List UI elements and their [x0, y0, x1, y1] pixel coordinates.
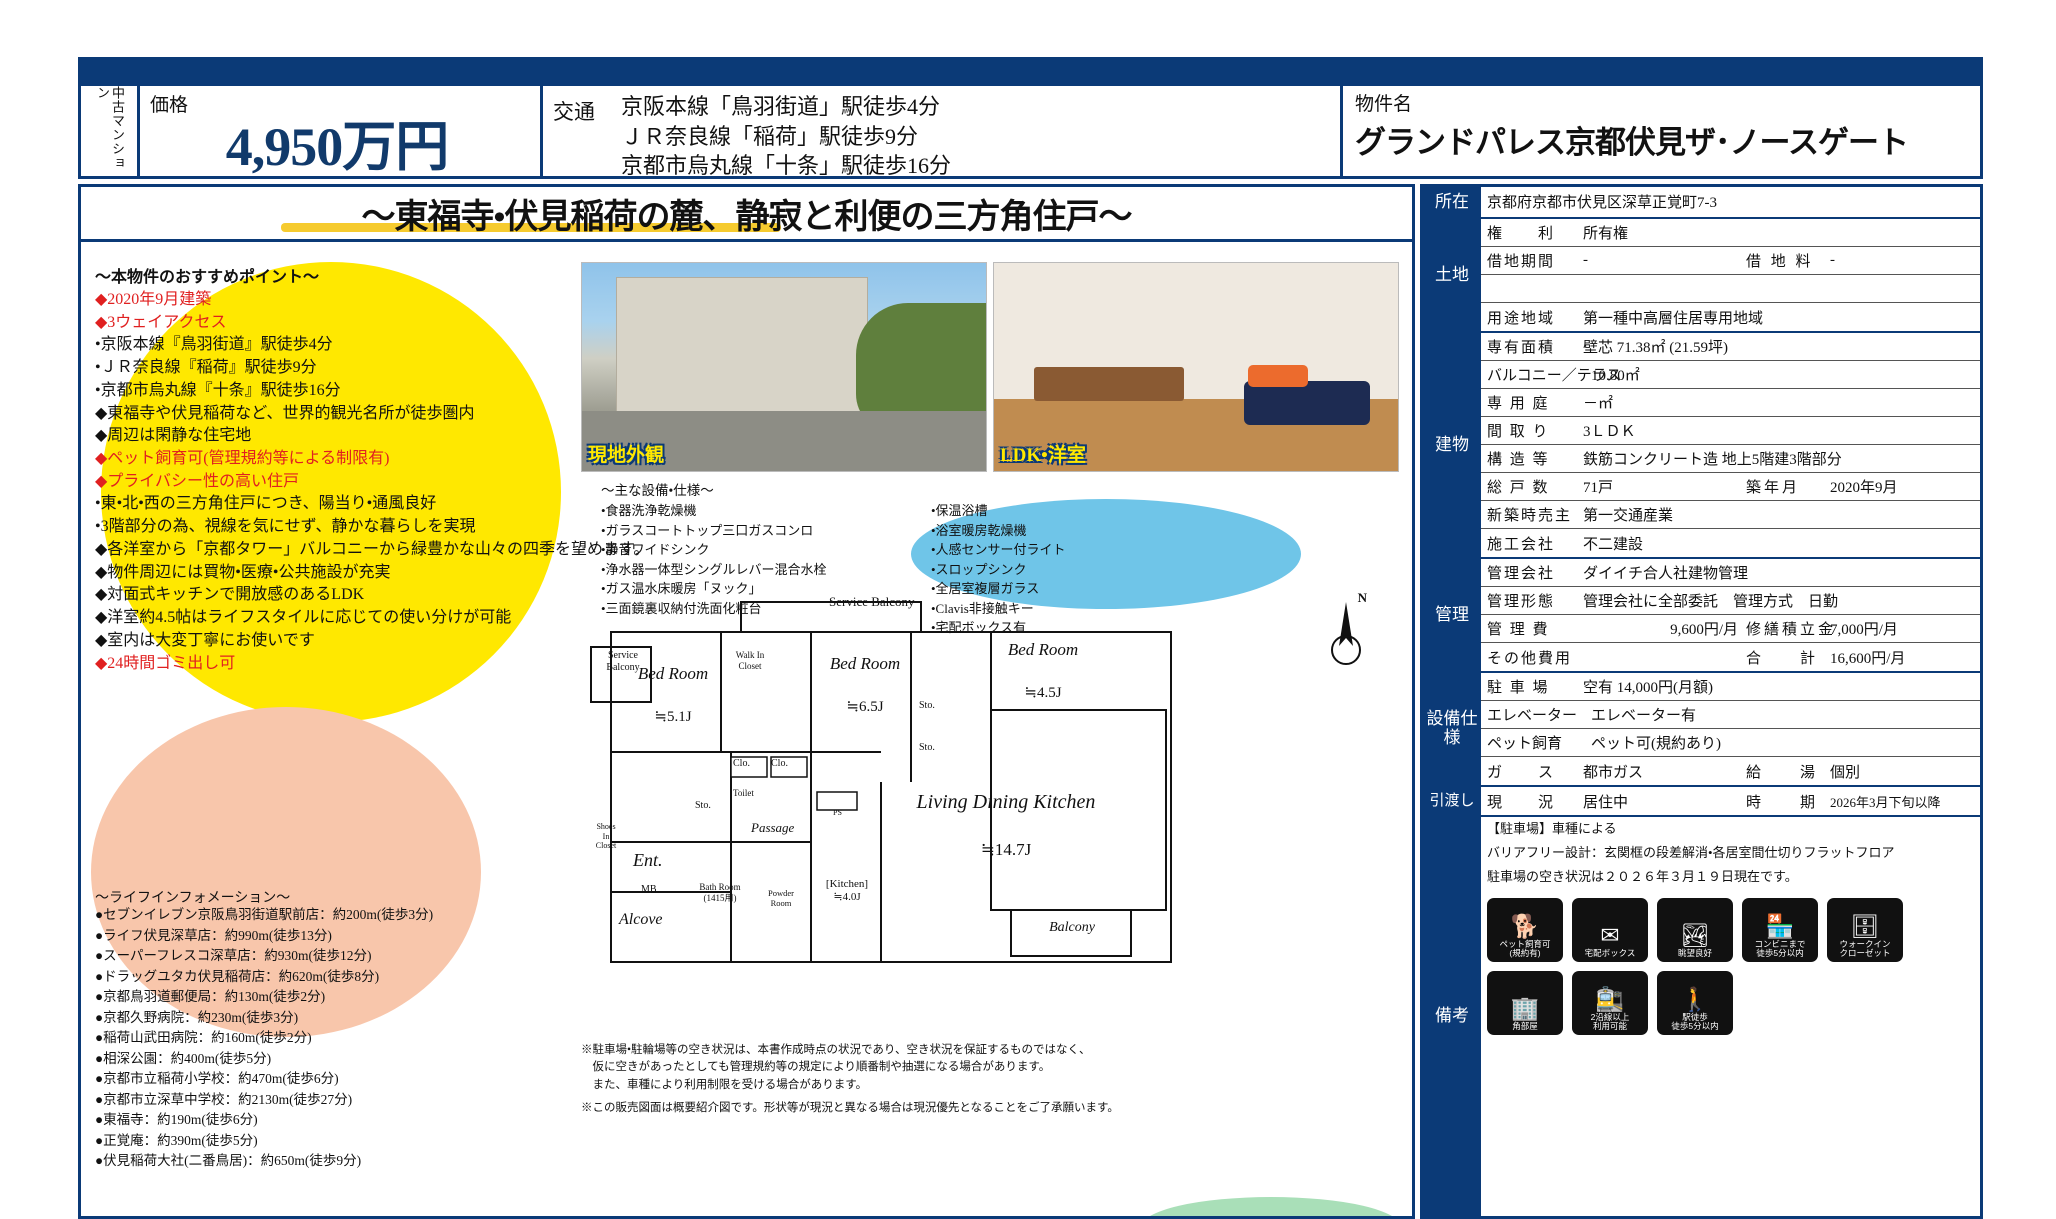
spec-row: 専有面積 壁芯 71.38㎡ (21.59坪)	[1481, 333, 1980, 361]
fac-key: エレベーター	[1487, 704, 1591, 725]
point-item: ◆24時間ゴミ出し可	[95, 653, 565, 676]
point-item: ◆周辺は閑静な住宅地	[95, 425, 565, 448]
building-value: 鉄筋コンクリート造 地上5階建3階部分	[1583, 448, 1980, 469]
del-value: 居住中	[1583, 791, 1746, 812]
badge-label: 角部屋	[1512, 1021, 1538, 1031]
spec-side-label-building: 建物	[1423, 333, 1481, 557]
bathroom-label: Bath Room (1415用)	[689, 882, 751, 904]
equipment-item: •食器洗浄乾燥機	[601, 501, 931, 521]
spec-side-label-remarks: 備考	[1423, 817, 1481, 1216]
storage-label: Sto.	[919, 742, 935, 754]
balcony-label: Balcony	[1017, 920, 1127, 937]
spec-side-label-location: 所在	[1423, 187, 1481, 217]
point-item: •3階部分の為、視線を気にせず、静かな暮らしを実現	[95, 516, 565, 539]
spec-row: ペット飼育 ペット可(規約あり)	[1481, 729, 1980, 757]
access-line: ＪＲ奈良線「稲荷」駅徒歩9分	[621, 122, 1340, 152]
access-cell: 交通 京阪本線「鳥羽街道」駅徒歩4分 ＪＲ奈良線「稲荷」駅徒歩9分 京都市烏丸線…	[543, 86, 1343, 176]
compass-icon	[1317, 598, 1375, 670]
life-info-item: ●稲荷山武田病院：約160m(徒歩2分)	[95, 1028, 575, 1049]
bedroom-1-size: ≒5.1J	[625, 708, 721, 726]
badge-pet-allowed: 🐕 ペット飼育可(規約有)	[1487, 898, 1563, 962]
mgmt-value2: 16,600円/月	[1830, 647, 1980, 668]
equipment-item: •ガラスコートトップ三口ガスコンロ	[601, 521, 931, 541]
building-value2: 2020年9月	[1830, 476, 1980, 497]
land-value2: -	[1830, 252, 1980, 269]
mgmt-value: 9,600円/月	[1583, 618, 1746, 639]
price-cell: 価格 4,950万円	[140, 86, 543, 176]
mgmt-value: ダイイチ合人社建物管理	[1583, 562, 1980, 583]
building-key: 専 用 庭	[1487, 392, 1583, 413]
point-item: •東•北•西の三方角住戸につき、陽当り•通風良好	[95, 493, 565, 516]
spec-side-label-land: 土地	[1423, 219, 1481, 331]
spec-section-management: 管理 管理会社 ダイイチ合人社建物管理 管理形態 管理会社に全部委託 管理方式 …	[1423, 559, 1980, 673]
life-info-item: ●ドラッグユタカ伏見稲荷店：約620m(徒歩8分)	[95, 967, 575, 988]
points-heading: ～本物件のおすすめポイント～	[95, 263, 565, 287]
point-item: ◆プライバシー性の高い住戸	[95, 471, 565, 494]
green-blob	[1141, 1197, 1401, 1219]
land-key: 借地期間	[1487, 250, 1583, 271]
land-value: -	[1583, 252, 1746, 269]
badge-label: ウォークイン	[1839, 939, 1890, 949]
catchcopy-text: ～東福寺•伏見稲荷の麓、静寂と利便の三方角住戸～	[362, 189, 1132, 238]
land-value: 所有権	[1583, 222, 1980, 243]
land-key: 用途地域	[1487, 307, 1583, 328]
storage-label: Sto.	[919, 700, 935, 712]
footnotes: ※駐車場•駐輪場等の空き状況は、本書作成時点の状況であり、空き状況を保証するもの…	[581, 1042, 1401, 1117]
point-item: ◆3ウェイアクセス	[95, 312, 565, 335]
fac-key: ペット飼育	[1487, 732, 1591, 753]
spec-side-label-facilities: 設備仕様	[1423, 673, 1481, 785]
fac-value: エレベーター有	[1591, 704, 1980, 725]
life-info-item: ●スーパーフレスコ深草店：約930m(徒歩12分)	[95, 946, 575, 967]
footnote-line: 仮に空きがあったとしても管理規約等の規定により順番制や抽選になる場合があります。	[581, 1059, 1401, 1076]
remark-line: 駐車場の空き状況は２０２６年３月１９日現在です。	[1481, 865, 1980, 889]
ldk-photo-caption: LDK•洋室	[1000, 440, 1086, 467]
equipment-heading: ～主な設備•仕様～	[601, 479, 1401, 499]
life-info-item: ●京都市立深草中学校：約2130m(徒歩27分)	[95, 1090, 575, 1111]
service-balcony-top-label: Service Balcony	[829, 594, 915, 610]
life-info-item: ●相深公園：約400m(徒歩5分)	[95, 1049, 575, 1070]
equipment-item: •スロップシンク	[931, 560, 1261, 580]
bedroom-1-name: Bed Room	[625, 664, 721, 684]
badge-sublabel: (規約有)	[1509, 948, 1540, 958]
spec-row: 構 造 等 鉄筋コンクリート造 地上5階建3階部分	[1481, 445, 1980, 473]
bedroom-2-size: ≒6.5J	[817, 698, 913, 716]
property-name-label: 物件名	[1355, 89, 1980, 116]
spec-section-delivery: 引渡し 現 況 居住中 時 期 2026年3月下旬以降	[1423, 787, 1980, 817]
closet-label: Clo.	[733, 758, 750, 770]
fac-value2: 個別	[1830, 761, 1980, 782]
exterior-photo: 現地外観	[581, 262, 987, 472]
building-value: －㎡	[1583, 392, 1980, 413]
spec-row: その他費用 合 計 16,600円/月	[1481, 643, 1980, 671]
life-info-list: ●セブンイレブン京阪鳥羽街道駅前店：約200m(徒歩3分) ●ライフ伏見深草店：…	[95, 905, 575, 1172]
ldk-photo: LDK•洋室	[993, 262, 1399, 472]
station-walk-icon: 🚶	[1681, 988, 1710, 1011]
spec-table: 所在 京都府京都市伏見区深草正覚町7-3 土地 権 利 所有権 借地期間 - 借…	[1420, 184, 1983, 1219]
spec-section-remarks: 備考 【駐車場】車種による バリアフリー設計：玄関框の段差解消•各居室間仕切りフ…	[1423, 817, 1980, 1216]
badge-walk-in-closet: 🗄 ウォークインクローゼット	[1827, 898, 1903, 962]
storage-label: Sto.	[695, 800, 711, 812]
badge-sublabel: クローゼット	[1839, 948, 1890, 958]
spec-row: 新築時売主 第一交通産業	[1481, 501, 1980, 529]
property-name-cell: 物件名 グランドパレス京都伏見ザ･ノースゲート	[1343, 86, 1980, 176]
equipment-item: •保温浴槽	[931, 501, 1261, 521]
fac-key: 駐 車 場	[1487, 676, 1583, 697]
building-key: 総 戸 数	[1487, 476, 1583, 497]
mgmt-key: その他費用	[1487, 647, 1583, 668]
land-value: 第一種中高層住居専用地域	[1583, 307, 1980, 328]
life-info-item: ●東福寺：約190m(徒歩6分)	[95, 1110, 575, 1131]
spec-side-label-delivery: 引渡し	[1423, 787, 1481, 815]
badge-corner-room: 🏢 角部屋	[1487, 971, 1563, 1035]
sofa-shape	[1244, 381, 1370, 425]
fac-key2: 給 湯	[1746, 761, 1830, 782]
flyer-page: 中古マンション 価格 4,950万円 交通 京阪本線「鳥羽街道」駅徒歩4分 ＪＲ…	[0, 0, 2056, 1219]
point-item: •京都市烏丸線『十条』駅徒歩16分	[95, 380, 565, 403]
exterior-photo-caption: 現地外観	[588, 440, 664, 467]
bedroom-3-size: ≒4.5J	[995, 684, 1091, 702]
equipment-item: •人感センサー付ライト	[931, 540, 1261, 560]
points-list: ～本物件のおすすめポイント～ ◆2020年9月建築 ◆3ウェイアクセス •京阪本…	[95, 263, 565, 675]
two-lines-icon: 🚉	[1596, 988, 1625, 1011]
life-info-item: ●伏見稲荷大社(二番鳥居)：約650m(徒歩9分)	[95, 1151, 575, 1172]
spec-section-facilities: 設備仕様 駐 車 場 空有 14,000円(月額) エレベーター エレベーター有…	[1423, 673, 1980, 787]
closet-label: Clo.	[771, 758, 788, 770]
building-value: 第一交通産業	[1583, 504, 1980, 525]
spec-row: 借地期間 - 借 地 料 -	[1481, 247, 1980, 275]
spec-row: 管理会社 ダイイチ合人社建物管理	[1481, 559, 1980, 587]
footnote-line: ※駐車場•駐輪場等の空き状況は、本書作成時点の状況であり、空き状況を保証するもの…	[581, 1042, 1401, 1059]
badge-sublabel: 利用可能	[1593, 1021, 1627, 1031]
land-key2: 借 地 料	[1746, 250, 1830, 271]
badge-station-walk: 🚶 駅徒歩徒歩5分以内	[1657, 971, 1733, 1035]
building-key: 構 造 等	[1487, 448, 1583, 469]
badge-label: ペット飼育可	[1499, 939, 1550, 949]
mgmt-key: 管理形態	[1487, 590, 1583, 611]
building-key: 施工会社	[1487, 533, 1583, 554]
access-label: 交通	[553, 96, 595, 126]
equipment-item: •浄水器一体型シングルレバー混合水栓	[601, 560, 931, 580]
building-key: 新築時売主	[1487, 504, 1583, 525]
toilet-label: Toilet	[733, 788, 754, 799]
powder-room-label: Powder Room	[757, 888, 805, 908]
life-info-heading: ～ライフインフォメーション～	[95, 887, 565, 907]
point-item: •ＪＲ奈良線『稲荷』駅徒歩9分	[95, 357, 565, 380]
ldk-name: Living Dining Kitchen	[891, 790, 1121, 814]
spec-row: 管 理 費 9,600円/月 修繕積立金 7,000円/月	[1481, 615, 1980, 643]
view-icon: 🏞	[1680, 924, 1709, 947]
fac-value: 都市ガス	[1583, 761, 1746, 782]
spec-row: 施工会社 不二建設	[1481, 529, 1980, 557]
footnote-line: また、車種により利用制限を受ける場合があります。	[581, 1077, 1401, 1094]
spec-section-building: 建物 専有面積 壁芯 71.38㎡ (21.59坪) バルコニー／テラス 10.…	[1423, 333, 1980, 559]
floorplan-drawing	[581, 592, 1401, 1037]
badge-label: 眺望良好	[1678, 948, 1712, 958]
price-value: 4,950万円	[140, 102, 534, 181]
badge-grid: 🐕 ペット飼育可(規約有) ✉ 宅配ボックス 🏞 眺望良好 🏪 コンビニまで徒歩…	[1481, 890, 1980, 1043]
equipment-item: •浴室暖房乾燥機	[931, 521, 1261, 541]
spec-row: 間 取 り 3ＬＤＫ	[1481, 417, 1980, 445]
alcove-label: Alcove	[619, 910, 663, 929]
header-bar: 中古マンション 価格 4,950万円 交通 京阪本線「鳥羽街道」駅徒歩4分 ＪＲ…	[78, 83, 1983, 179]
building-key2: 築年月	[1746, 476, 1830, 497]
spec-row: エレベーター エレベーター有	[1481, 701, 1980, 729]
closet-icon: 🗄	[1850, 915, 1879, 938]
corner-room-icon: 🏢	[1511, 997, 1540, 1020]
life-info-item: ●正覚庵：約390m(徒歩5分)	[95, 1131, 575, 1152]
point-item: ◆ペット飼育可(管理規約等による制限有)	[95, 448, 565, 471]
mgmt-key2: 修繕積立金	[1746, 618, 1830, 639]
life-info-item: ●京都市立稲荷小学校：約470m(徒歩6分)	[95, 1069, 575, 1090]
building-value: 壁芯 71.38㎡ (21.59坪)	[1583, 336, 1980, 357]
badge-good-view: 🏞 眺望良好	[1657, 898, 1733, 962]
badge-label: 2沿線以上	[1591, 1012, 1630, 1022]
left-panel: ～東福寺•伏見稲荷の麓、静寂と利便の三方角住戸～ ～本物件のおすすめポイント～ …	[78, 184, 1415, 1219]
building-shape	[616, 277, 868, 429]
meter-box-label: MB	[641, 884, 657, 896]
mgmt-value2: 7,000円/月	[1830, 618, 1980, 639]
spec-section-land: 土地 権 利 所有権 借地期間 - 借 地 料 - 用途地域 第一種中高層住	[1423, 219, 1980, 333]
equipment-item: •静音ワイドシンク	[601, 540, 931, 560]
mgmt-key2: 合 計	[1746, 647, 1830, 668]
spec-row: 用途地域 第一種中高層住居専用地域	[1481, 303, 1980, 331]
life-info-item: ●京都鳥羽道郵便局：約130m(徒歩2分)	[95, 987, 575, 1008]
building-key: バルコニー／テラス	[1487, 364, 1591, 385]
location-value: 京都府京都市伏見区深草正覚町7-3	[1487, 191, 1980, 212]
point-item: ◆2020年9月建築	[95, 289, 565, 312]
point-item: ◆洋室約4.5帖はライフスタイルに応じての使い分けが可能	[95, 607, 565, 630]
point-item: ◆室内は大変丁寧にお使いです	[95, 630, 565, 653]
point-item: ◆各洋室から「京都タワー」バルコニーから緑豊かな山々の四季を望めます。	[95, 539, 565, 562]
badge-convenience-store: 🏪 コンビニまで徒歩5分以内	[1742, 898, 1818, 962]
photo-strip: 現地外観 LDK•洋室	[581, 262, 1401, 472]
walk-in-closet-label: Walk In Closet	[733, 650, 767, 672]
spec-row: 管理形態 管理会社に全部委託 管理方式 日勤	[1481, 587, 1980, 615]
life-info-item: ●セブンイレブン京阪鳥羽街道駅前店：約200m(徒歩3分)	[95, 905, 575, 926]
top-navy-band	[78, 57, 1983, 83]
mgmt-key: 管 理 費	[1487, 618, 1583, 639]
mgmt-value: 管理会社に全部委託 管理方式 日勤	[1583, 590, 1980, 611]
spec-row: 駐 車 場 空有 14,000円(月額)	[1481, 673, 1980, 701]
spec-row: 現 況 居住中 時 期 2026年3月下旬以降	[1481, 787, 1980, 815]
dog-icon: 🐕	[1511, 915, 1540, 938]
remark-line: 【駐車場】車種による	[1481, 817, 1980, 841]
mgmt-key: 管理会社	[1487, 562, 1583, 583]
access-line: 京都市烏丸線「十条」駅徒歩16分	[621, 151, 1340, 181]
spec-row: 総 戸 数 71戸 築年月 2020年9月	[1481, 473, 1980, 501]
life-info-item: ●京都久野病院：約230m(徒歩3分)	[95, 1008, 575, 1029]
pipe-shaft-label: PS	[833, 808, 842, 818]
bedroom-3-name: Bed Room	[995, 640, 1091, 660]
badge-two-lines: 🚉 2沿線以上利用可能	[1572, 971, 1648, 1035]
land-key: 権 利	[1487, 222, 1583, 243]
badge-label: コンビニまで	[1754, 939, 1805, 949]
category-label: 中古マンション	[94, 86, 124, 176]
badge-sublabel: 徒歩5分以内	[1671, 1021, 1718, 1031]
badge-sublabel: 徒歩5分以内	[1756, 948, 1803, 958]
convenience-store-icon: 🏪	[1766, 915, 1795, 938]
building-value: 不二建設	[1583, 533, 1980, 554]
building-value: 10.80㎡	[1591, 364, 1980, 385]
fac-value: 空有 14,000円(月額)	[1583, 676, 1980, 697]
del-key: 現 況	[1487, 791, 1583, 812]
del-key2: 時 期	[1746, 791, 1830, 812]
category-cell: 中古マンション	[81, 86, 140, 176]
spec-row: ガ ス 都市ガス 給 湯 個別	[1481, 757, 1980, 785]
point-item: •京阪本線『鳥羽街道』駅徒歩4分	[95, 334, 565, 357]
access-line: 京阪本線「鳥羽街道」駅徒歩4分	[621, 92, 1340, 122]
badge-delivery-box: ✉ 宅配ボックス	[1572, 898, 1648, 962]
catchcopy-bar: ～東福寺•伏見稲荷の麓、静寂と利便の三方角住戸～	[81, 187, 1412, 242]
kitchen-label: [Kitchen] ≒4.0J	[815, 878, 879, 904]
kitchen-counter-shape	[1034, 367, 1184, 401]
building-value: 3ＬＤＫ	[1583, 420, 1980, 441]
building-value: 71戸	[1583, 476, 1746, 497]
bedroom-2-name: Bed Room	[817, 654, 913, 674]
access-lines: 京阪本線「鳥羽街道」駅徒歩4分 ＪＲ奈良線「稲荷」駅徒歩9分 京都市烏丸線「十条…	[621, 92, 1340, 181]
building-key: 間 取 り	[1487, 420, 1583, 441]
spec-row: バルコニー／テラス 10.80㎡	[1481, 361, 1980, 389]
building-key: 専有面積	[1487, 336, 1583, 357]
point-item: ◆対面式キッチンで開放感のあるLDK	[95, 584, 565, 607]
spec-row	[1481, 275, 1980, 303]
fac-key: ガ ス	[1487, 761, 1583, 782]
entrance-label: Ent.	[633, 850, 663, 872]
point-item: ◆物件周辺には買物•医療•公共施設が充実	[95, 562, 565, 585]
passage-label: Passage	[751, 820, 794, 836]
point-item: ◆東福寺や伏見稲荷など、世界的観光名所が徒歩圏内	[95, 403, 565, 426]
north-label: N	[1358, 590, 1367, 606]
del-value2: 2026年3月下旬以降	[1830, 792, 1980, 811]
floorplan: Service Balcony Service Balcony Bed Room…	[581, 592, 1401, 1037]
spec-section-location: 所在 京都府京都市伏見区深草正覚町7-3	[1423, 187, 1980, 219]
remark-line: バリアフリー設計：玄関框の段差解消•各居室間仕切りフラットフロア	[1481, 841, 1980, 865]
badge-label: 宅配ボックス	[1585, 948, 1636, 958]
spec-row: 専 用 庭 －㎡	[1481, 389, 1980, 417]
ldk-size: ≒14.7J	[891, 840, 1121, 860]
mailbox-icon: ✉	[1600, 924, 1619, 947]
badge-label: 駅徒歩	[1682, 1012, 1708, 1022]
spec-row: 権 利 所有権	[1481, 219, 1980, 247]
property-name-value: グランドパレス京都伏見ザ･ノースゲート	[1355, 117, 1980, 162]
footnote-line: ※この販売図面は概要紹介図です。形状等が現況と異なる場合は現況優先となることをご…	[581, 1100, 1401, 1117]
spec-side-label-management: 管理	[1423, 559, 1481, 671]
spec-row-location: 京都府京都市伏見区深草正覚町7-3	[1481, 187, 1980, 215]
life-info-item: ●ライフ伏見深草店：約990m(徒歩13分)	[95, 926, 575, 947]
shoes-in-closet-label: Shoes In Closet	[595, 822, 617, 851]
fac-value: ペット可(規約あり)	[1591, 732, 1980, 753]
